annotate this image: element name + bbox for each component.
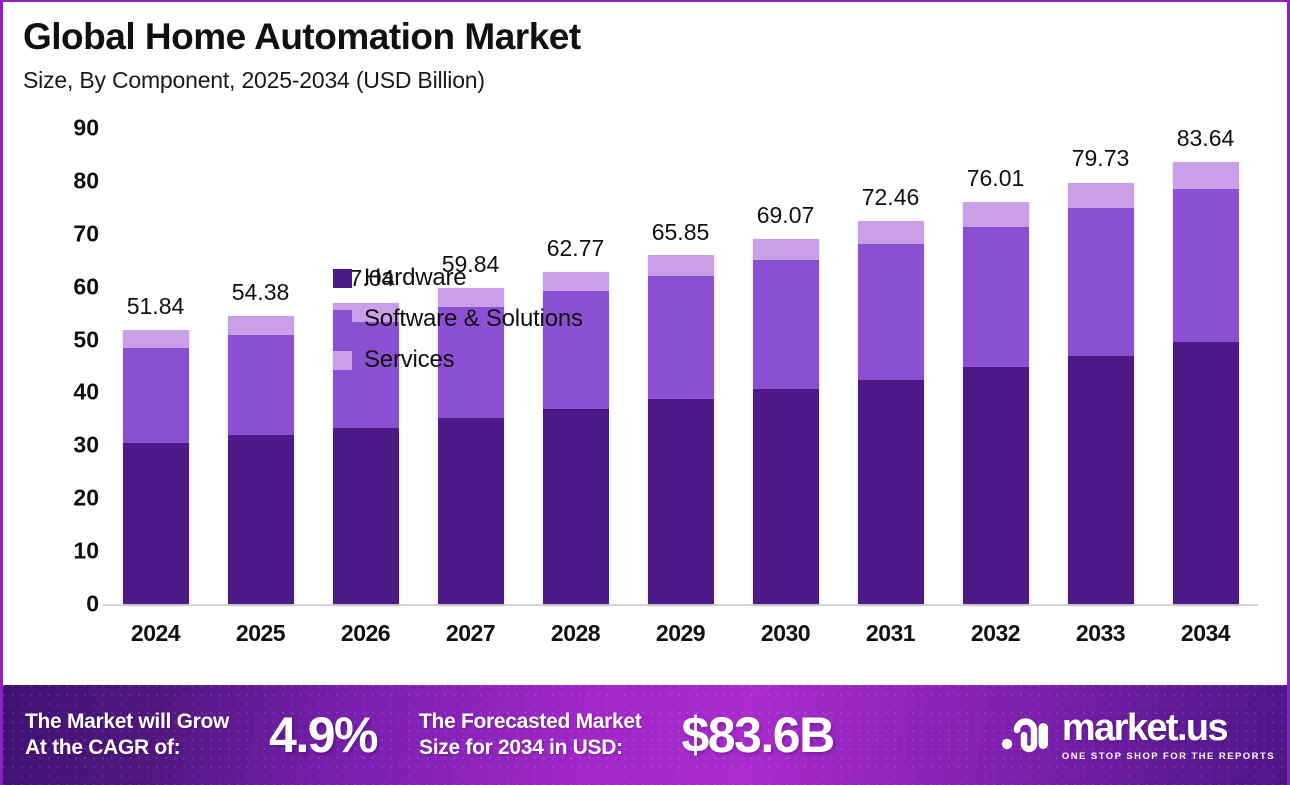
bar-stack[interactable]: [648, 255, 714, 604]
x-axis-tick: 2032: [943, 620, 1048, 647]
x-axis-line: [103, 604, 1258, 606]
header: Global Home Automation Market Size, By C…: [3, 2, 1287, 94]
legend-swatch-icon: [333, 310, 352, 329]
y-axis-tick: 0: [86, 591, 99, 618]
bar-segment-software[interactable]: [1173, 189, 1239, 342]
y-axis: 0102030405060708090: [41, 128, 99, 598]
x-axis-tick: 2034: [1153, 620, 1258, 647]
bar-stack[interactable]: [963, 202, 1029, 604]
brand-name: market.us: [1062, 709, 1275, 747]
bar-group[interactable]: 51.84: [103, 128, 208, 604]
x-axis-tick: 2028: [523, 620, 628, 647]
bar-segment-services[interactable]: [228, 316, 294, 335]
bar-segment-hardware[interactable]: [648, 399, 714, 604]
bar-segment-hardware[interactable]: [963, 367, 1029, 604]
bar-stack[interactable]: [1173, 162, 1239, 604]
bar-stack[interactable]: [753, 239, 819, 604]
bar-segment-hardware[interactable]: [858, 380, 924, 604]
legend-item[interactable]: Services: [333, 346, 583, 374]
x-axis-tick: 2033: [1048, 620, 1153, 647]
bar-segment-hardware[interactable]: [123, 443, 189, 604]
x-axis-tick: 2029: [628, 620, 733, 647]
x-axis-tick: 2027: [418, 620, 523, 647]
market-us-bars-icon: [1000, 713, 1052, 758]
brand-tagline: ONE STOP SHOP FOR THE REPORTS: [1062, 751, 1275, 762]
bar-segment-software[interactable]: [963, 227, 1029, 367]
forecast-caption-line2: Size for 2034 in USD:: [419, 735, 641, 761]
y-axis-tick: 20: [73, 485, 99, 512]
cagr-value: 4.9%: [269, 706, 377, 764]
bar-stack[interactable]: [1068, 183, 1134, 605]
cagr-caption: The Market will Grow At the CAGR of:: [25, 709, 229, 762]
page-subtitle: Size, By Component, 2025-2034 (USD Billi…: [23, 67, 1287, 94]
x-axis-tick: 2031: [838, 620, 943, 647]
bar-segment-services[interactable]: [858, 221, 924, 244]
bar-group[interactable]: 65.85: [628, 128, 733, 604]
cagr-caption-line1: The Market will Grow: [25, 709, 229, 735]
y-axis-tick: 10: [73, 538, 99, 565]
cagr-caption-line2: At the CAGR of:: [25, 735, 229, 761]
bar-segment-hardware[interactable]: [333, 428, 399, 604]
page-title: Global Home Automation Market: [23, 16, 1287, 57]
y-axis-tick: 80: [73, 167, 99, 194]
bar-segment-software[interactable]: [1068, 208, 1134, 356]
bar-stack[interactable]: [858, 221, 924, 604]
bar-series-container: 51.8454.3857.0459.8462.7765.8569.0772.46…: [103, 128, 1258, 604]
bar-segment-software[interactable]: [228, 335, 294, 435]
bar-segment-software[interactable]: [753, 260, 819, 389]
bar-segment-hardware[interactable]: [1173, 342, 1239, 604]
bar-total-label: 51.84: [127, 293, 185, 320]
y-axis-tick: 50: [73, 326, 99, 353]
legend-item[interactable]: Software & Solutions: [333, 305, 583, 333]
bar-segment-services[interactable]: [1173, 162, 1239, 189]
bar-total-label: 76.01: [967, 165, 1025, 192]
legend-item-label: Hardware: [364, 264, 466, 292]
bar-segment-hardware[interactable]: [753, 389, 819, 604]
legend-swatch-icon: [333, 351, 352, 370]
bar-group[interactable]: 72.46: [838, 128, 943, 604]
forecast-caption: The Forecasted Market Size for 2034 in U…: [419, 709, 641, 762]
chart-plot-area: 0102030405060708090 51.8454.3857.0459.84…: [3, 128, 1287, 672]
bar-group[interactable]: 83.64: [1153, 128, 1258, 604]
legend-item[interactable]: Hardware: [333, 264, 583, 292]
forecast-value: $83.6B: [681, 706, 833, 764]
chart-legend: HardwareSoftware & SolutionsServices: [333, 264, 583, 374]
bar-segment-hardware[interactable]: [228, 435, 294, 604]
legend-item-label: Services: [364, 346, 454, 374]
y-axis-tick: 90: [73, 115, 99, 142]
legend-swatch-icon: [333, 269, 352, 288]
brand-text: market.us ONE STOP SHOP FOR THE REPORTS: [1062, 709, 1275, 762]
bar-segment-services[interactable]: [1068, 183, 1134, 209]
infographic-page: Global Home Automation Market Size, By C…: [0, 0, 1290, 785]
footer-banner: The Market will Grow At the CAGR of: 4.9…: [3, 685, 1290, 785]
legend-item-label: Software & Solutions: [364, 305, 583, 333]
bar-segment-services[interactable]: [648, 255, 714, 276]
bar-segment-services[interactable]: [963, 202, 1029, 227]
bar-total-label: 72.46: [862, 184, 920, 211]
bar-segment-hardware[interactable]: [1068, 356, 1134, 604]
bar-group[interactable]: 76.01: [943, 128, 1048, 604]
y-axis-tick: 70: [73, 220, 99, 247]
bar-stack[interactable]: [123, 330, 189, 604]
x-axis-tick: 2030: [733, 620, 838, 647]
bar-segment-hardware[interactable]: [543, 409, 609, 604]
bar-total-label: 62.77: [547, 235, 605, 262]
bar-segment-services[interactable]: [123, 330, 189, 347]
x-axis-tick: 2025: [208, 620, 313, 647]
bar-total-label: 83.64: [1177, 125, 1235, 152]
bar-total-label: 79.73: [1072, 145, 1130, 172]
forecast-caption-line1: The Forecasted Market: [419, 709, 641, 735]
bar-total-label: 54.38: [232, 279, 290, 306]
bar-segment-software[interactable]: [123, 348, 189, 443]
x-axis-tick: 2026: [313, 620, 418, 647]
bar-total-label: 65.85: [652, 219, 710, 246]
x-axis-tick: 2024: [103, 620, 208, 647]
x-axis: 2024202520262027202820292030203120322033…: [103, 620, 1258, 647]
bar-group[interactable]: 54.38: [208, 128, 313, 604]
bar-stack[interactable]: [228, 316, 294, 604]
y-axis-tick: 40: [73, 379, 99, 406]
bar-segment-services[interactable]: [753, 239, 819, 260]
bar-group[interactable]: 79.73: [1048, 128, 1153, 604]
y-axis-tick: 30: [73, 432, 99, 459]
bar-total-label: 69.07: [757, 202, 815, 229]
bar-segment-software[interactable]: [858, 244, 924, 380]
bar-segment-hardware[interactable]: [438, 418, 504, 604]
bar-group[interactable]: 69.07: [733, 128, 838, 604]
brand-logo[interactable]: market.us ONE STOP SHOP FOR THE REPORTS: [1000, 709, 1275, 762]
bar-segment-software[interactable]: [648, 276, 714, 399]
y-axis-tick: 60: [73, 273, 99, 300]
